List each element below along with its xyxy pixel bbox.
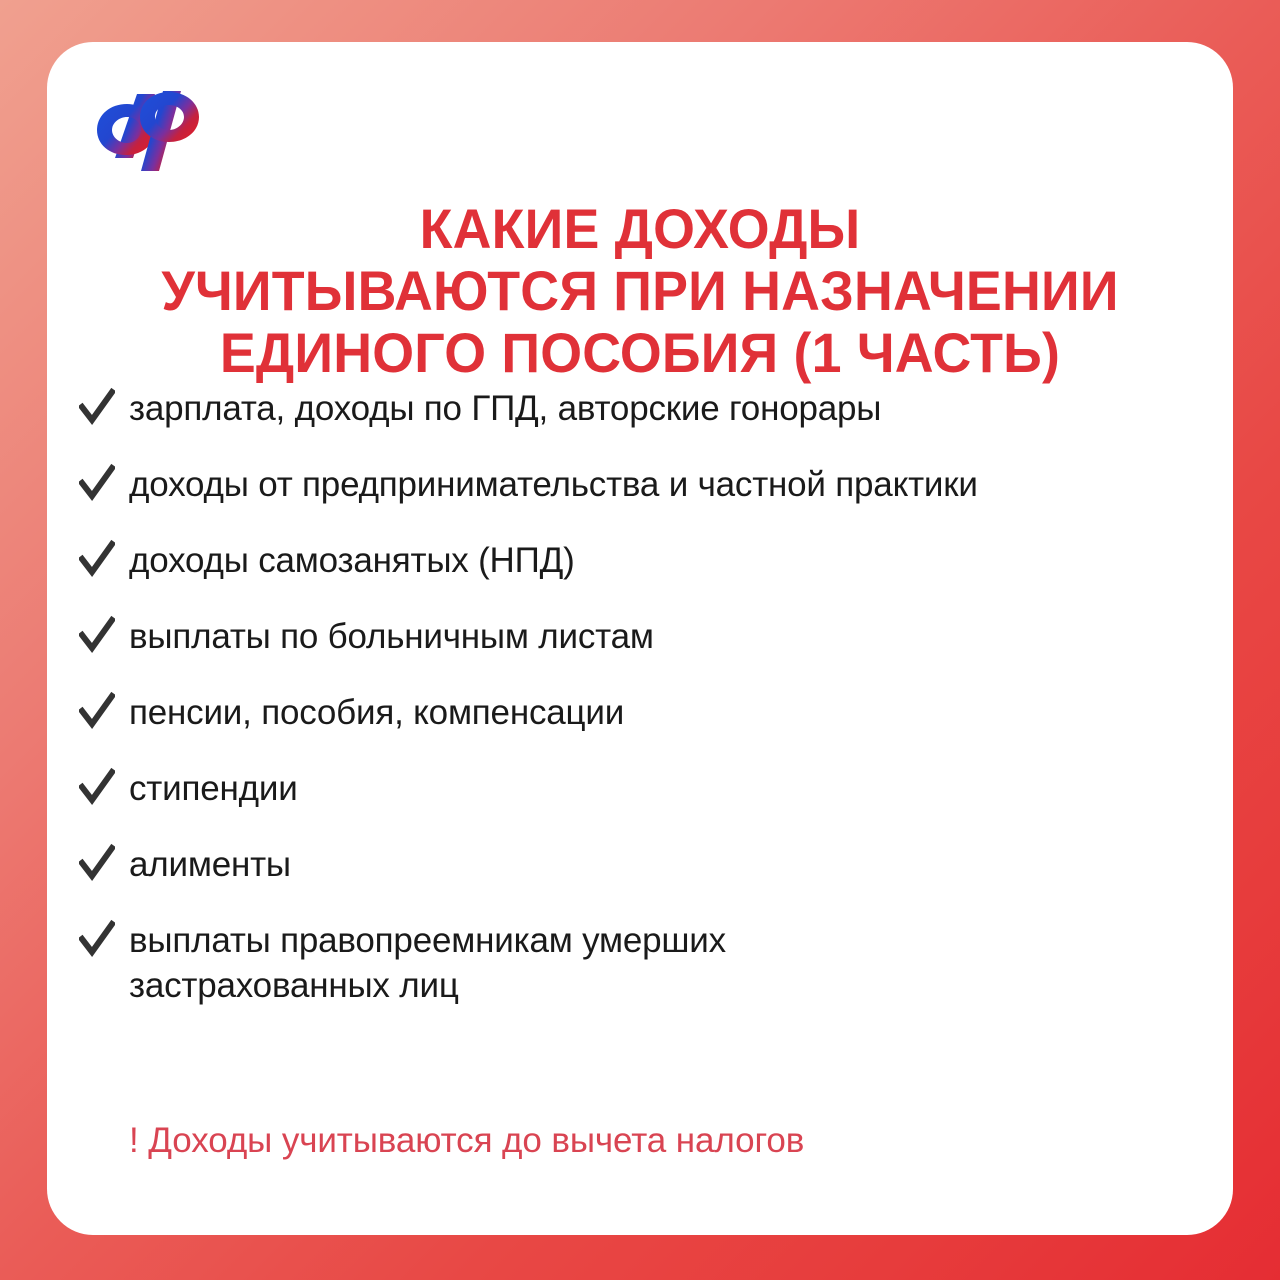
content-card: КАКИЕ ДОХОДЫ УЧИТЫВАЮТСЯ ПРИ НАЗНАЧЕНИИ …	[47, 42, 1233, 1235]
list-item: зарплата, доходы по ГПД, авторские гонор…	[73, 386, 1233, 431]
list-item-label: доходы от предпринимательства и частной …	[129, 465, 978, 504]
list-item-label: алименты	[129, 845, 291, 884]
poster-background: КАКИЕ ДОХОДЫ УЧИТЫВАЮТСЯ ПРИ НАЗНАЧЕНИИ …	[0, 0, 1280, 1280]
list-item: алименты	[73, 842, 1233, 887]
list-item: доходы самозанятых (НПД)	[73, 538, 1233, 583]
list-item-label: выплаты по больничным листам	[129, 617, 654, 656]
check-icon	[79, 767, 115, 807]
list-item-label: доходы самозанятых (НПД)	[129, 541, 575, 580]
list-item-label: стипендии	[129, 769, 298, 808]
list-item-label: пенсии, пособия, компенсации	[129, 693, 624, 732]
footer-note: ! Доходы учитываются до вычета налогов	[129, 1119, 804, 1163]
list-item-label: выплаты правопреемникам умерших застрахо…	[129, 921, 726, 1005]
check-icon	[79, 843, 115, 883]
check-icon	[79, 615, 115, 655]
list-item: выплаты правопреемникам умерших застрахо…	[73, 918, 949, 1008]
page-title: КАКИЕ ДОХОДЫ УЧИТЫВАЮТСЯ ПРИ НАЗНАЧЕНИИ …	[71, 198, 1210, 384]
list-item: стипендии	[73, 766, 1233, 811]
check-icon	[79, 387, 115, 427]
sfr-logo	[89, 74, 209, 174]
list-item: выплаты по больничным листам	[73, 614, 1233, 659]
list-item-label: зарплата, доходы по ГПД, авторские гонор…	[129, 389, 881, 428]
check-icon	[79, 463, 115, 503]
check-icon	[79, 539, 115, 579]
income-types-list: зарплата, доходы по ГПД, авторские гонор…	[73, 386, 1233, 1008]
list-item: доходы от предпринимательства и частной …	[73, 462, 1233, 507]
check-icon	[79, 919, 115, 959]
check-icon	[79, 691, 115, 731]
list-item: пенсии, пособия, компенсации	[73, 690, 1233, 735]
